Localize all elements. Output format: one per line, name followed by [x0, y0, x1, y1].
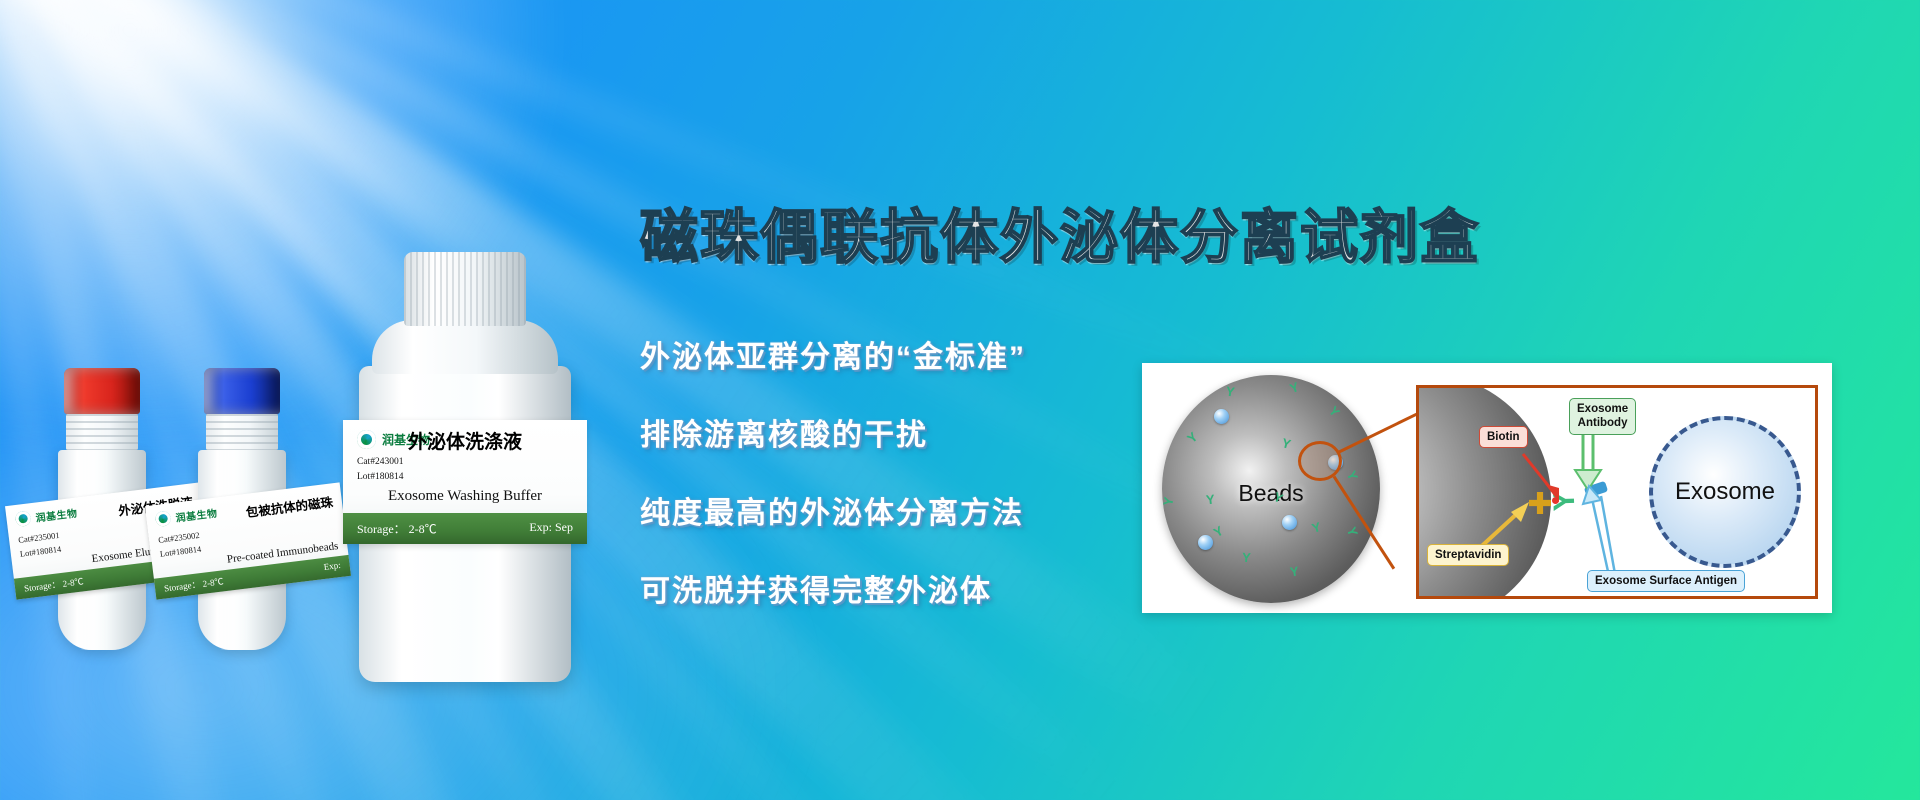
product-storage: Storage： 2-8℃: [357, 520, 437, 537]
antibody-icon: Y: [1288, 380, 1301, 395]
product-exp: Exp:: [323, 560, 341, 575]
antibody-icon: Y: [1242, 551, 1252, 565]
product-vial-elution-buffer: 润基生物 外泌体洗脱液 Cat#235001 Lot#180814 Exosom…: [58, 368, 146, 650]
feature-bullet: 外泌体亚群分离的“金标准”: [640, 332, 1200, 376]
captured-exosome-dot: [1198, 535, 1213, 550]
diagram-canvas: Beads Y Y Y Y Y Y Y Y Y Y Y Y Y Y: [1148, 369, 1826, 607]
bottle-body: 润基生物 外泌体洗涤液 Cat#243001 Lot#180814 Exosom…: [359, 366, 571, 682]
exosome-vesicle: Exosome: [1649, 416, 1801, 568]
feature-bullet: 纯度最高的外泌体分离方法: [640, 488, 1200, 532]
exosome-label: Exosome: [1653, 478, 1797, 506]
mechanism-diagram-panel: Beads Y Y Y Y Y Y Y Y Y Y Y Y Y Y: [1142, 363, 1832, 613]
vial-neck: [66, 414, 138, 450]
page-title: 磁珠偶联抗体外泌体分离试剂盒: [640, 190, 1200, 274]
captured-exosome-dot: [1214, 409, 1229, 424]
exosome-surface-antigen-tag: Exosome Surface Antigen: [1587, 570, 1745, 592]
bottle-label: 润基生物 外泌体洗涤液 Cat#243001 Lot#180814 Exosom…: [343, 420, 587, 544]
bottle-cap: [404, 252, 526, 326]
bottle-shoulder: [372, 320, 558, 374]
vial-cap-red: [64, 368, 140, 414]
exosome-antibody-tag-line1: Exosome: [1577, 402, 1628, 416]
antibody-icon: Y: [1280, 436, 1292, 451]
product-name-en: Exosome Washing Buffer: [357, 488, 573, 505]
product-storage: Storage： 2-8℃: [163, 574, 224, 594]
antibody-icon: Y: [1211, 524, 1225, 540]
exosome-antibody-tag: Exosome Antibody: [1569, 398, 1636, 435]
product-lot: Lot#180814: [357, 471, 573, 484]
antibody-icon: Y: [1345, 525, 1360, 538]
streptavidin-tag: Streptavidin: [1427, 544, 1509, 566]
product-bottle-washing-buffer: 润基生物 外泌体洗涤液 Cat#243001 Lot#180814 Exosom…: [340, 252, 590, 682]
feature-bullet-list: 外泌体亚群分离的“金标准” 排除游离核酸的干扰 纯度最高的外泌体分离方法 可洗脱…: [640, 332, 1200, 610]
surface-antigen-arrow: [1579, 484, 1619, 580]
vial-cap-blue: [204, 368, 280, 414]
zoomed-binding-detail: Exosome Y: [1416, 385, 1818, 599]
antibody-icon: Y: [1225, 384, 1235, 398]
antibody-icon: Y: [1185, 430, 1200, 445]
exosome-antibody-tag-line2: Antibody: [1577, 416, 1628, 430]
product-photo-group: 润基生物 外泌体洗脱液 Cat#235001 Lot#180814 Exosom…: [0, 0, 640, 800]
feature-bullet: 排除游离核酸的干扰: [640, 410, 1200, 454]
magnetic-bead-illustration: Beads Y Y Y Y Y Y Y Y Y Y Y Y Y Y: [1162, 375, 1380, 603]
captured-exosome-dot: [1282, 515, 1297, 530]
label-green-band: Storage： 2-8℃ Exp: Sep: [343, 513, 587, 544]
product-vial-immunobeads: 润基生物 包被抗体的磁珠 Cat#235002 Lot#180814 Pre-c…: [198, 368, 286, 650]
brand-logo-icon: [357, 430, 376, 449]
product-cat: Cat#243001: [357, 456, 573, 469]
vial-neck: [206, 414, 278, 450]
antibody-icon: Y: [1289, 564, 1299, 578]
antibody-icon: Y: [1327, 404, 1342, 419]
product-storage: Storage： 2-8℃: [23, 574, 84, 594]
feature-bullet: 可洗脱并获得完整外泌体: [640, 566, 1200, 610]
marketing-copy-block: 磁珠偶联抗体外泌体分离试剂盒 外泌体亚群分离的“金标准” 排除游离核酸的干扰 纯…: [640, 190, 1200, 610]
vial-tube: 润基生物 包被抗体的磁珠 Cat#235002 Lot#180814 Pre-c…: [198, 450, 286, 650]
vial-tube: 润基生物 外泌体洗脱液 Cat#235001 Lot#180814 Exosom…: [58, 450, 146, 650]
product-exp: Exp: Sep: [529, 520, 573, 537]
antibody-icon: Y: [1205, 493, 1215, 507]
biotin-tag: Biotin: [1479, 426, 1528, 448]
antibody-icon: Y: [1310, 520, 1322, 535]
